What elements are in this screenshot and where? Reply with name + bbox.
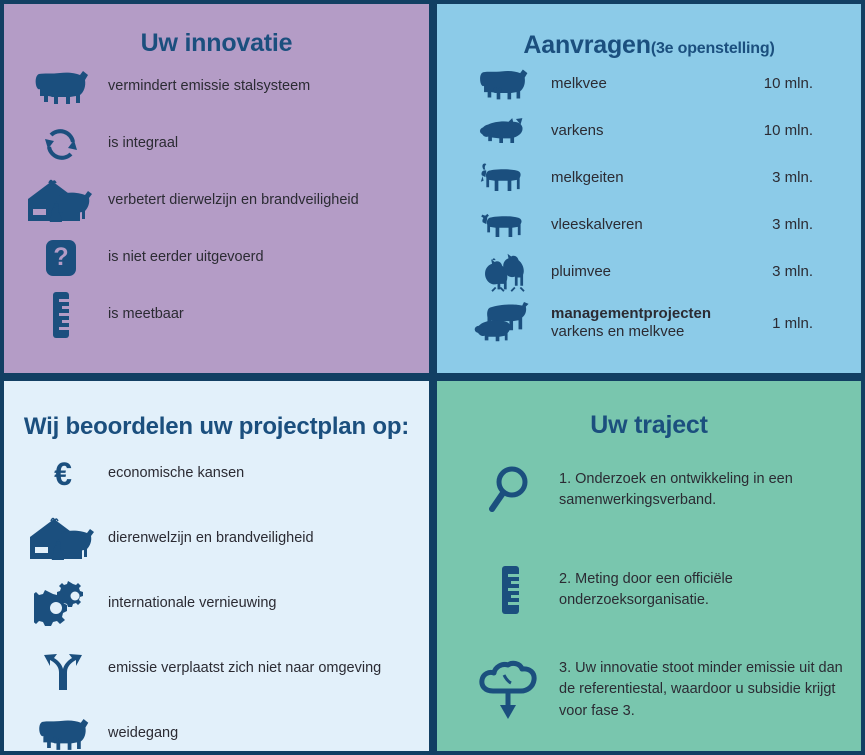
table-cell-name-sub: varkens en melkvee bbox=[551, 323, 741, 341]
gears-icon bbox=[24, 580, 102, 628]
list-item: € economische kansen bbox=[4, 441, 429, 506]
list-item: verbetert dierwelzijn en brandveiligheid bbox=[4, 172, 429, 229]
list-item-label: 2. Meting door een officiële onderzoekso… bbox=[559, 569, 849, 611]
aanvragen-item-list: melkvee 10 mln. varkens 10 mln. bbox=[437, 60, 861, 351]
magnifier-icon bbox=[475, 464, 545, 516]
barn-with-animals-icon bbox=[24, 515, 102, 563]
innovatie-item-list: vermindert emissie stalsysteem is integr… bbox=[4, 58, 429, 343]
panel-title-uw-innovatie: Uw innovatie bbox=[4, 29, 429, 58]
table-cell-amount: 3 mln. bbox=[741, 263, 813, 280]
panel-aanvragen: Aanvragen(3e openstelling) melkvee 10 ml… bbox=[433, 0, 865, 377]
cloud-down-arrow-icon bbox=[475, 659, 545, 721]
list-item: is integraal bbox=[4, 115, 429, 172]
list-item-label: internationale vernieuwing bbox=[108, 594, 276, 614]
list-item-label: dierenwelzijn en brandveiligheid bbox=[108, 529, 314, 549]
panel-title-aanvragen: Aanvragen(3e openstelling) bbox=[437, 31, 861, 60]
cow-icon bbox=[22, 66, 100, 108]
table-cell-name: melkgeiten bbox=[551, 169, 741, 187]
cow-and-pig-icon bbox=[473, 302, 533, 344]
list-item-label: is meetbaar bbox=[108, 305, 184, 325]
table-cell-amount: 3 mln. bbox=[741, 169, 813, 186]
list-item-label: emissie verplaatst zich niet naar omgevi… bbox=[108, 659, 381, 679]
list-item: is meetbaar bbox=[4, 286, 429, 343]
table-cell-name-strong: managementprojecten bbox=[551, 305, 741, 323]
poultry-icon bbox=[473, 251, 533, 293]
question-mark-icon: ? bbox=[22, 238, 100, 278]
list-item: emissie verplaatst zich niet naar omgevi… bbox=[4, 636, 429, 701]
table-cell-name: pluimvee bbox=[551, 263, 741, 281]
panel-title-aanvragen-sub: (3e openstelling) bbox=[651, 40, 775, 57]
pig-icon bbox=[473, 115, 533, 147]
svg-text:?: ? bbox=[53, 243, 68, 271]
panel-title-wij-beoordelen: Wij beoordelen uw projectplan op: bbox=[4, 413, 429, 441]
ruler-icon bbox=[475, 563, 545, 617]
table-cell-name: varkens bbox=[551, 122, 741, 140]
recycle-arrows-icon bbox=[22, 124, 100, 164]
list-item: 2. Meting door een officiële onderzoekso… bbox=[437, 540, 861, 640]
list-item-label: 3. Uw innovatie stoot minder emissie uit… bbox=[559, 658, 849, 721]
infographic-root: Uw innovatie vermindert emissie stalsyst… bbox=[0, 0, 865, 755]
beoordelen-item-list: € economische kansen bbox=[4, 441, 429, 755]
list-item: internationale vernieuwing bbox=[4, 571, 429, 636]
table-row: vleeskalveren 3 mln. bbox=[437, 201, 861, 248]
ruler-icon bbox=[22, 290, 100, 340]
calf-icon bbox=[473, 208, 533, 242]
list-item: weidegang bbox=[4, 701, 429, 755]
list-item-label: verbetert dierwelzijn en brandveiligheid bbox=[108, 191, 359, 211]
list-item: 3. Uw innovatie stoot minder emissie uit… bbox=[437, 640, 861, 740]
table-row: varkens 10 mln. bbox=[437, 107, 861, 154]
traject-item-list: 1. Onderzoek en ontwikkeling in een same… bbox=[437, 440, 861, 740]
list-item-label: is integraal bbox=[108, 134, 178, 154]
table-row: pluimvee 3 mln. bbox=[437, 248, 861, 295]
cow-icon bbox=[473, 65, 533, 103]
table-cell-name: vleeskalveren bbox=[551, 216, 741, 234]
panel-title-aanvragen-main: Aanvragen bbox=[523, 31, 650, 59]
list-item: vermindert emissie stalsysteem bbox=[4, 58, 429, 115]
goat-icon bbox=[473, 159, 533, 197]
list-item: dierenwelzijn en brandveiligheid bbox=[4, 506, 429, 571]
list-item-label: economische kansen bbox=[108, 464, 244, 484]
cow-icon bbox=[24, 714, 102, 754]
fork-arrows-icon bbox=[24, 646, 102, 692]
panel-title-uw-traject: Uw traject bbox=[437, 411, 861, 440]
table-cell-name: managementprojecten varkens en melkvee bbox=[551, 305, 741, 341]
list-item: ? is niet eerder uitgevoerd bbox=[4, 229, 429, 286]
list-item-label: 1. Onderzoek en ontwikkeling in een same… bbox=[559, 469, 849, 511]
list-item-label: weidegang bbox=[108, 724, 178, 744]
svg-text:€: € bbox=[54, 456, 72, 492]
barn-with-animals-icon bbox=[22, 177, 100, 225]
table-cell-amount: 10 mln. bbox=[741, 75, 813, 92]
panel-uw-traject: Uw traject 1. Onderzoek en ontwikkeling … bbox=[433, 377, 865, 755]
table-cell-amount: 1 mln. bbox=[741, 315, 813, 332]
table-cell-amount: 10 mln. bbox=[741, 122, 813, 139]
table-row: managementprojecten varkens en melkvee 1… bbox=[437, 295, 861, 351]
list-item-label: vermindert emissie stalsysteem bbox=[108, 77, 310, 97]
list-item: 1. Onderzoek en ontwikkeling in een same… bbox=[437, 440, 861, 540]
euro-icon: € bbox=[24, 454, 102, 494]
list-item-label: is niet eerder uitgevoerd bbox=[108, 248, 264, 268]
table-row: melkvee 10 mln. bbox=[437, 60, 861, 107]
table-row: melkgeiten 3 mln. bbox=[437, 154, 861, 201]
table-cell-name: melkvee bbox=[551, 75, 741, 93]
panel-uw-innovatie: Uw innovatie vermindert emissie stalsyst… bbox=[0, 0, 433, 377]
table-cell-amount: 3 mln. bbox=[741, 216, 813, 233]
panel-wij-beoordelen: Wij beoordelen uw projectplan op: € econ… bbox=[0, 377, 433, 755]
